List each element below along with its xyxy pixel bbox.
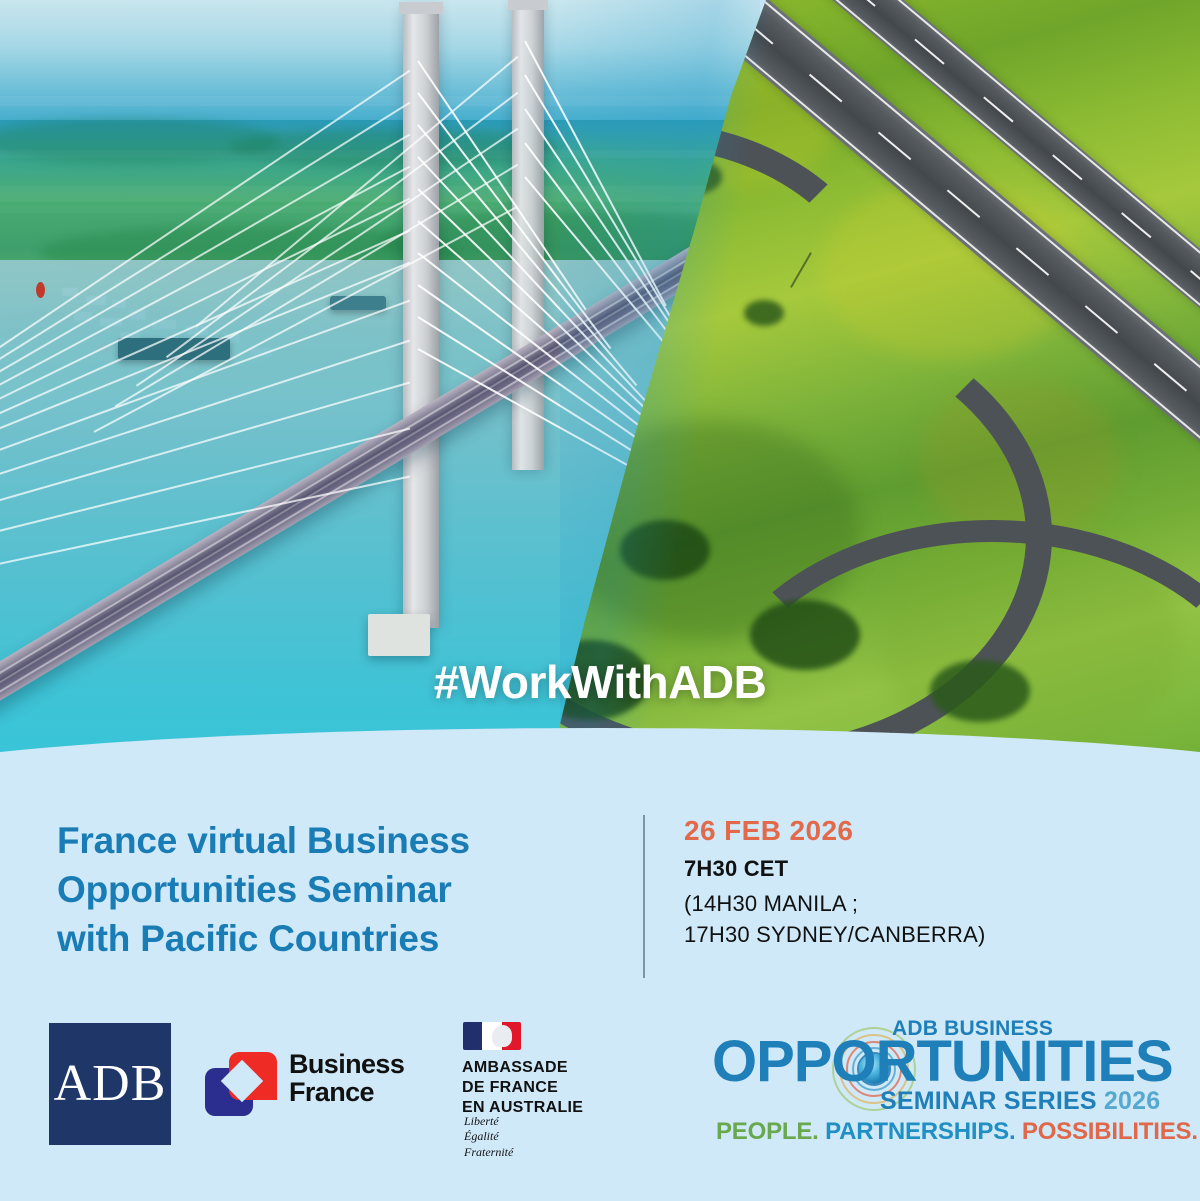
business-france-mark-icon — [205, 1050, 277, 1120]
hashtag: #WorkWithADB — [0, 655, 1200, 709]
lane-dash — [983, 97, 1013, 123]
lane-dash — [809, 74, 842, 103]
info-panel: France virtual Business Opportunities Se… — [0, 780, 1200, 1201]
timezone-line-1: (14H30 MANILA ; — [684, 888, 1154, 919]
opportunities-wordmark: OPPORTUNITIES — [712, 1033, 1173, 1091]
tagline-partnerships: PARTNERSHIPS. — [825, 1118, 1015, 1145]
embassy-line-2: DE FRANCE — [462, 1078, 583, 1098]
title-line-2: Opportunities Seminar — [57, 865, 617, 914]
lane-dash — [1085, 305, 1118, 334]
seminar-year: 2026 — [1104, 1087, 1160, 1115]
pylon-cap — [508, 0, 548, 10]
lane-dash — [845, 0, 875, 7]
adb-logo: ADB — [49, 1023, 171, 1145]
title-line-3: with Pacific Countries — [57, 914, 617, 963]
motto-fraternite: Fraternité — [464, 1145, 513, 1160]
event-poster: #WorkWithADB France virtual Business Opp… — [0, 0, 1200, 1201]
timezone-line-2: 17H30 SYDNEY/CANBERRA) — [684, 919, 1154, 950]
opportunities-tagline: PEOPLE. PARTNERSHIPS. POSSIBILITIES. — [716, 1118, 1198, 1146]
hero-photo: #WorkWithADB — [0, 0, 1200, 800]
event-time: 7H30 CET — [684, 856, 1154, 882]
lane-dash — [1190, 270, 1200, 296]
flag-white-band — [482, 1022, 501, 1050]
logo-row: ADB Business France — [0, 1018, 1200, 1158]
motto-egalite: Égalité — [464, 1129, 513, 1144]
bf-line-1: Business — [289, 1051, 404, 1079]
pylon-cap — [399, 2, 443, 14]
lane-dash — [947, 189, 980, 218]
opportunities-subline: SEMINAR SERIES 2026 — [880, 1087, 1160, 1116]
embassy-line-1: AMBASSADE — [462, 1058, 583, 1078]
shrub — [744, 300, 784, 326]
marianne-icon — [492, 1025, 512, 1047]
event-timezones: (14H30 MANILA ; 17H30 SYDNEY/CANBERRA) — [684, 888, 1154, 950]
field-band — [0, 96, 760, 106]
vertical-divider — [643, 815, 645, 978]
lane-dash — [1154, 363, 1187, 392]
seminar-series-text: SEMINAR SERIES — [880, 1087, 1097, 1115]
embassy-motto: Liberté Égalité Fraternité — [464, 1114, 513, 1160]
buoy — [36, 282, 45, 298]
lane-dash — [878, 132, 911, 161]
lane-dash — [1052, 154, 1082, 180]
business-france-wordmark: Business France — [289, 1051, 404, 1106]
french-flag-icon — [463, 1022, 521, 1050]
page-title: France virtual Business Opportunities Se… — [57, 816, 617, 964]
embassy-name: AMBASSADE DE FRANCE EN AUSTRALIE — [462, 1058, 583, 1118]
business-france-logo: Business France — [205, 1042, 435, 1132]
field-band — [0, 186, 760, 202]
adb-logo-text: ADB — [54, 1058, 167, 1110]
embassy-logo: AMBASSADE DE FRANCE EN AUSTRALIE Liberté… — [462, 1022, 642, 1150]
tagline-possibilities: POSSIBILITIES. — [1022, 1118, 1198, 1145]
motto-liberte: Liberté — [464, 1114, 513, 1129]
event-date: 26 FEB 2026 — [684, 815, 1154, 847]
tagline-people: PEOPLE. — [716, 1118, 819, 1145]
lane-dash — [1016, 247, 1049, 276]
bridge-pier — [368, 614, 430, 656]
event-datetime: 26 FEB 2026 7H30 CET (14H30 MANILA ; 17H… — [684, 815, 1154, 950]
title-line-1: France virtual Business — [57, 816, 617, 865]
shrub — [620, 520, 710, 580]
lane-dash — [914, 39, 944, 65]
bf-line-2: France — [289, 1079, 404, 1107]
opportunities-logo: ADB BUSINESS OPPORTUNITIES SEMINAR SERIE… — [712, 1015, 1164, 1143]
flag-blue-band — [463, 1022, 482, 1050]
lane-dash — [1121, 212, 1151, 238]
